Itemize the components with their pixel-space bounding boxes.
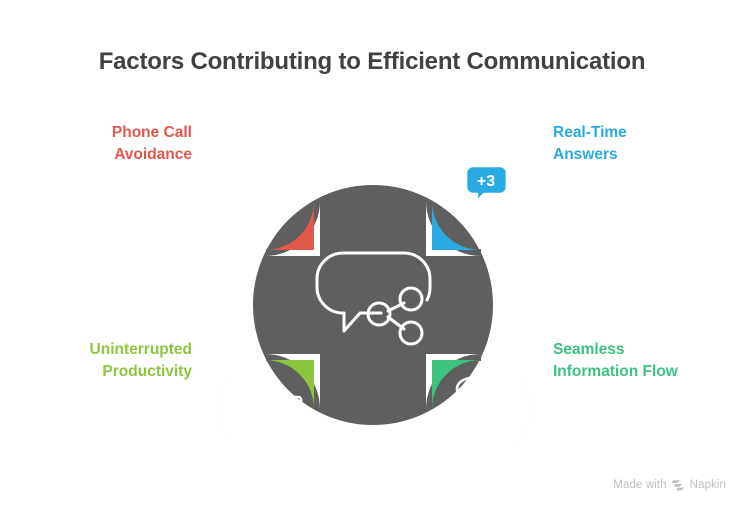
- node-label-phone-call-avoidance: Phone Call Avoidance: [20, 122, 192, 166]
- diagram-canvas: +3: [0, 0, 744, 509]
- watermark-brand: Napkin: [690, 479, 726, 491]
- napkin-logo-icon: [672, 479, 685, 491]
- node-label-seamless-information-flow: Seamless Information Flow: [553, 339, 738, 383]
- node-real-time-answers[interactable]: +3: [426, 146, 536, 256]
- phone-handset-x-icon: [237, 165, 290, 225]
- napkin-watermark: Made with Napkin: [613, 479, 726, 491]
- watermark-prefix: Made with: [613, 479, 666, 491]
- real-time-answers-badge-text: +3: [477, 173, 495, 190]
- node-phone-call-avoidance[interactable]: [210, 146, 320, 256]
- node-seamless-information-flow[interactable]: [426, 354, 536, 464]
- node-uninterrupted-productivity[interactable]: [210, 354, 320, 464]
- winding-river-flow-icon: [456, 377, 507, 443]
- node-label-real-time-answers: Real-Time Answers: [553, 122, 733, 166]
- node-label-uninterrupted-productivity: Uninterrupted Productivity: [20, 339, 192, 383]
- diagram-svg: +3: [0, 0, 744, 509]
